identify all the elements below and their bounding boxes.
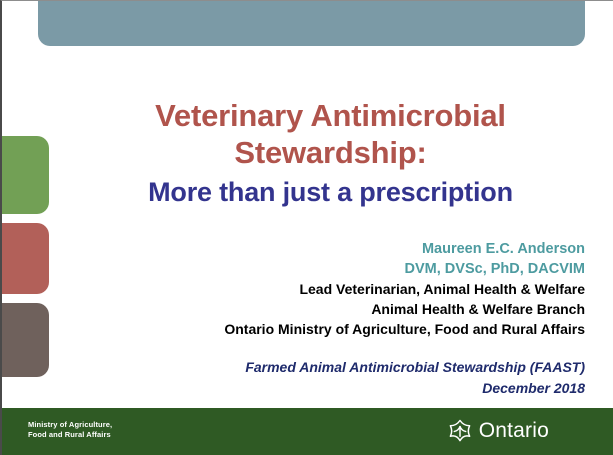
author-branch: Animal Health & Welfare Branch (65, 299, 585, 319)
slide-footer: Ministry of Agriculture, Food and Rural … (2, 408, 613, 455)
subtitle: More than just a prescription (58, 174, 603, 210)
title-line-2: Stewardship: (58, 134, 603, 171)
top-banner-bar (38, 0, 585, 46)
accent-block-red (0, 223, 49, 294)
author-credentials: DVM, DVSc, PhD, DACVIM (65, 259, 585, 279)
author-role: Lead Veterinarian, Animal Health & Welfa… (65, 279, 585, 299)
event-block: Farmed Animal Antimicrobial Stewardship … (65, 357, 585, 399)
title-line-1: Veterinary Antimicrobial (58, 97, 603, 134)
ministry-label-line-1: Ministry of Agriculture, (28, 420, 112, 430)
ontario-wordmark: Ontario (479, 419, 549, 443)
trillium-icon (446, 417, 474, 445)
event-date: December 2018 (65, 378, 585, 399)
event-name: Farmed Animal Antimicrobial Stewardship … (65, 357, 585, 378)
ontario-brand: Ontario (446, 417, 549, 445)
ministry-label-line-2: Food and Rural Affairs (28, 430, 112, 440)
author-organization: Ontario Ministry of Agriculture, Food an… (65, 319, 585, 339)
accent-block-brown (0, 303, 49, 377)
title-block: Veterinary Antimicrobial Stewardship: Mo… (58, 97, 603, 210)
author-block: Maureen E.C. Anderson DVM, DVSc, PhD, DA… (65, 239, 585, 339)
accent-block-green (0, 136, 49, 214)
ministry-label: Ministry of Agriculture, Food and Rural … (28, 420, 112, 440)
author-name: Maureen E.C. Anderson (65, 239, 585, 259)
presentation-slide: Veterinary Antimicrobial Stewardship: Mo… (0, 0, 613, 455)
